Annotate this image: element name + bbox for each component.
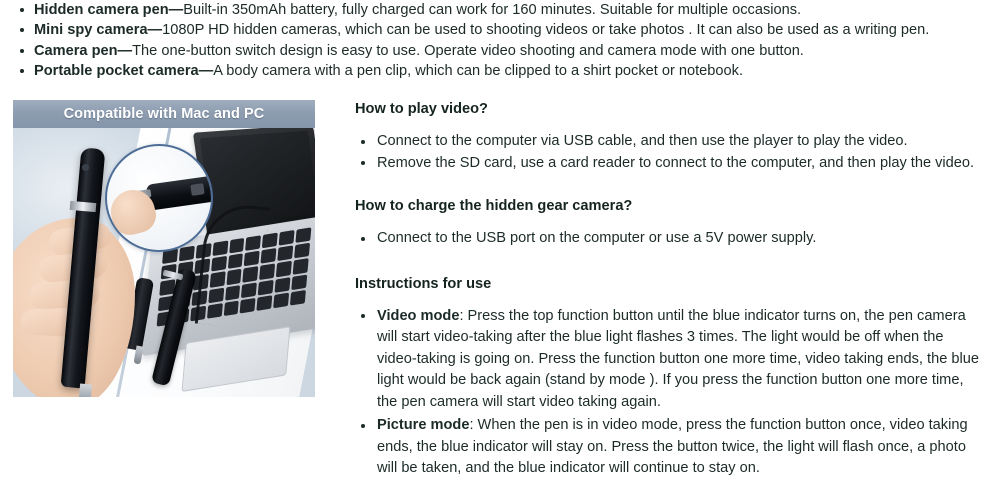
feature-text: The one-button switch design is easy to … (132, 43, 804, 59)
feature-lead: Hidden camera pen— (34, 2, 183, 18)
charge-bullet-list: Connect to the USB port on the computer … (355, 228, 985, 250)
product-description-page: Hidden camera pen—Built-in 350mAh batter… (0, 0, 1005, 484)
list-item: Remove the SD card, use a card reader to… (355, 153, 985, 175)
list-item: Connect to the computer via USB cable, a… (355, 131, 985, 153)
held-pen-tip (78, 384, 92, 397)
list-item-video-mode: Video mode: Press the top function butto… (355, 306, 985, 414)
list-item-picture-mode: Picture mode: When the pen is in video m… (355, 415, 985, 480)
heading-how-to-charge: How to charge the hidden gear camera? (355, 196, 985, 216)
function-button (190, 183, 204, 196)
magnifier-callout (105, 144, 213, 252)
play-video-bullet-list: Connect to the computer via USB cable, a… (355, 131, 985, 174)
feature-item: Mini spy camera—1080P HD hidden cameras,… (14, 20, 989, 40)
compatibility-banner-text: Compatible with Mac and PC (64, 106, 265, 122)
feature-lead: Mini spy camera— (34, 22, 162, 38)
heading-how-to-play-video: How to play video? (355, 99, 985, 119)
feature-text: 1080P HD hidden cameras, which can be us… (162, 22, 929, 38)
feature-text: Built-in 350mAh battery, fully charged c… (183, 2, 801, 18)
feature-lead: Portable pocket camera— (34, 63, 213, 79)
list-item: Connect to the USB port on the computer … (355, 228, 985, 250)
feature-item: Camera pen—The one-button switch design … (14, 41, 989, 61)
feature-bullet-list: Hidden camera pen—Built-in 350mAh batter… (14, 0, 989, 82)
heading-instructions-for-use: Instructions for use (355, 274, 985, 294)
feature-item: Portable pocket camera—A body camera wit… (14, 61, 989, 81)
feature-item: Hidden camera pen—Built-in 350mAh batter… (14, 0, 989, 20)
instructions-column: How to play video? Connect to the comput… (355, 99, 985, 482)
instructions-bullet-list: Video mode: Press the top function butto… (355, 306, 985, 480)
video-mode-label: Video mode (377, 308, 459, 324)
held-pen-ring (70, 201, 97, 212)
product-photo-scene (13, 100, 315, 397)
compatibility-banner: Compatible with Mac and PC (13, 100, 315, 128)
product-image: Compatible with Mac and PC (13, 100, 315, 397)
video-mode-text: : Press the top function button until th… (377, 308, 979, 410)
picture-mode-label: Picture mode (377, 417, 469, 433)
feature-text: A body camera with a pen clip, which can… (213, 63, 743, 79)
feature-lead: Camera pen— (34, 43, 132, 59)
